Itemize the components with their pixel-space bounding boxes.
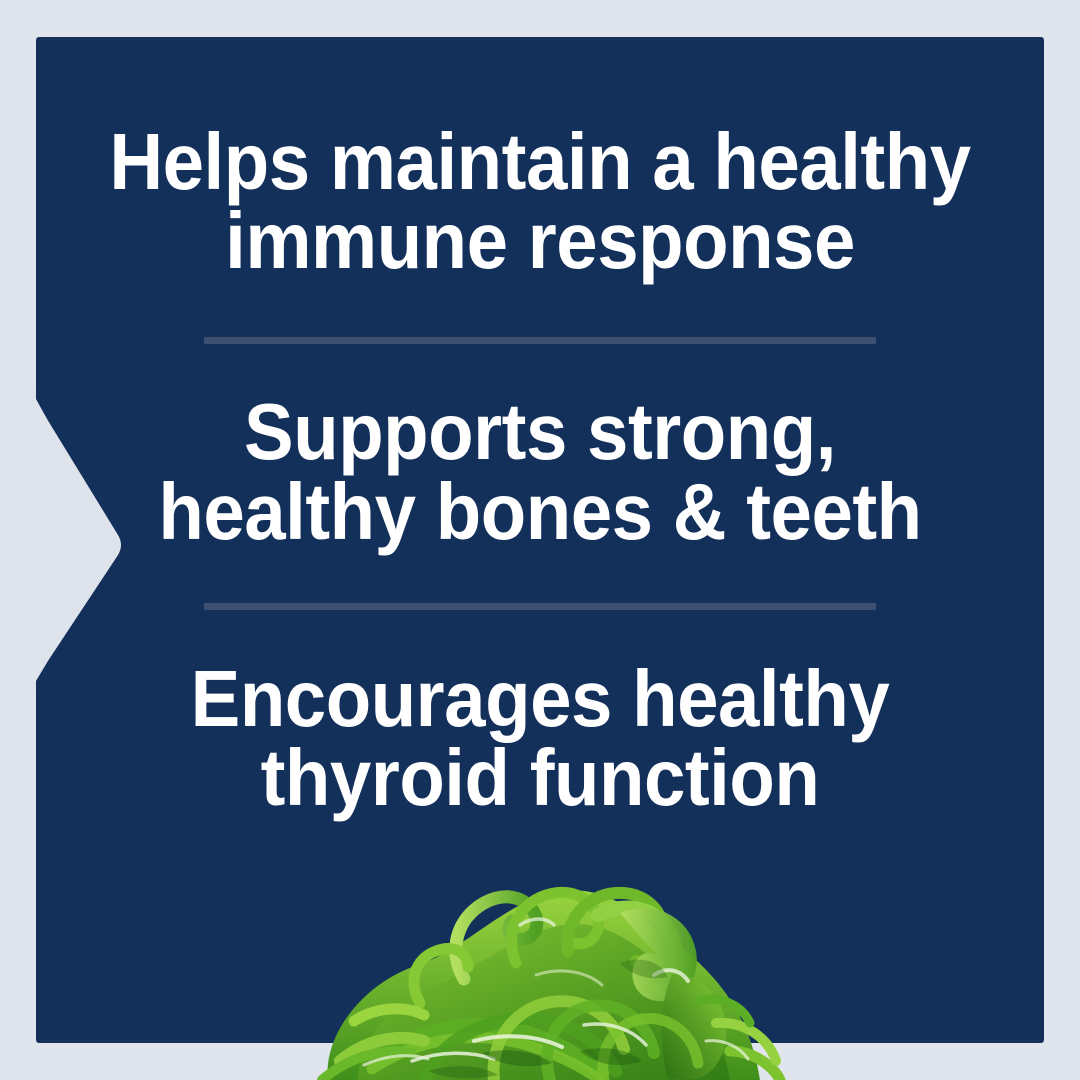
benefit-immune-line-1: Helps maintain a healthy [71,122,1008,201]
benefit-thyroid: Encourages healthy thyroid function [71,659,1008,817]
benefit-bones-teeth-line-2: healthy bones & teeth [71,472,1008,551]
benefit-thyroid-line-2: thyroid function [71,738,1008,817]
benefit-bones-teeth-line-1: Supports strong, [71,392,1008,471]
promo-card: Helps maintain a healthy immune response… [0,0,1080,1080]
benefit-bones-teeth: Supports strong, healthy bones & teeth [71,392,1008,550]
benefit-immune: Helps maintain a healthy immune response [71,122,1008,280]
divider-2 [204,603,876,610]
benefit-thyroid-line-1: Encourages healthy [71,659,1008,738]
seaweed-image [268,855,804,1080]
benefit-immune-line-2: immune response [71,201,1008,280]
divider-1 [204,337,876,344]
